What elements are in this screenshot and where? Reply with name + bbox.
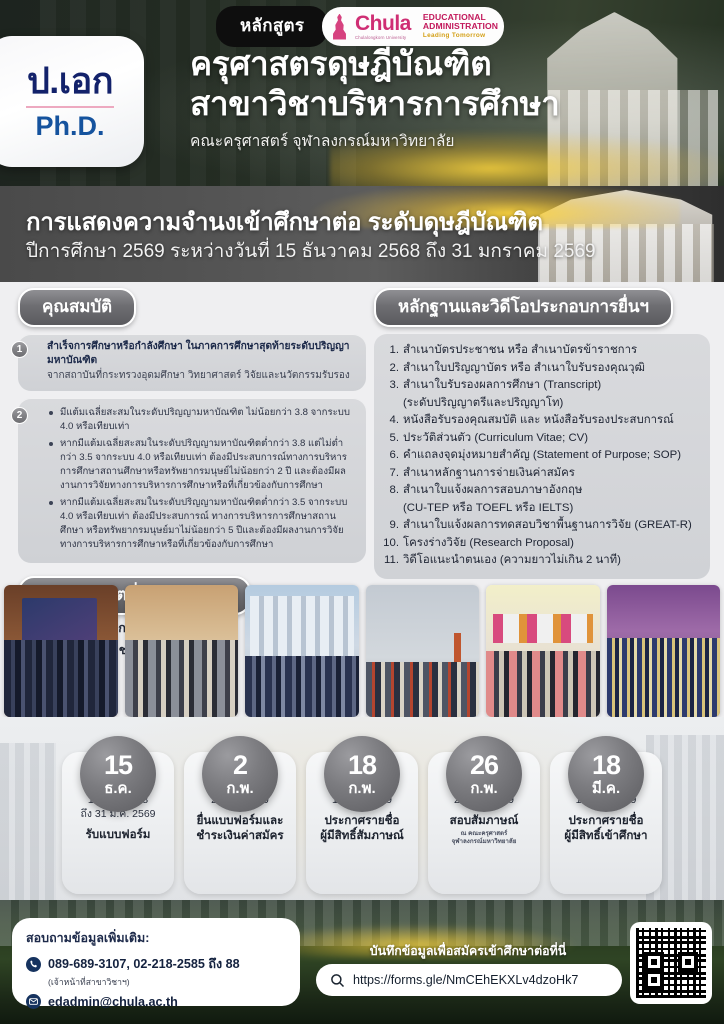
photo-group-photo-event-backdrop <box>486 585 600 717</box>
course-pill: หลักสูตร <box>216 6 328 47</box>
announcement-banner: การแสดงความจำนงเข้าศึกษาต่อ ระดับดุษฎีบั… <box>0 186 724 282</box>
list-item: 9.สำเนาใบแจ้งผลการทดสอบวิชาพื้นฐานการวิจ… <box>382 517 700 534</box>
document-continuation: (ระดับปริญญาตรีและปริญญาโท) <box>403 395 700 412</box>
list-item: 5.ประวัติส่วนตัว (Curriculum Vitae; CV) <box>382 430 700 447</box>
document-number: 9. <box>382 517 399 534</box>
qualification-1-number: 1 <box>11 341 28 358</box>
qualification-2-bullet-list: มีแต้มเฉลี่ยสะสมในระดับปริญญามหาบัณฑิต ไ… <box>47 406 357 552</box>
timeline-label: ประกาศรายชื่อผู้มีสิทธิ์เข้าศึกษา <box>555 813 657 843</box>
phone-icon <box>26 957 41 972</box>
list-item: หากมีแต้มเฉลี่ยสะสมในระดับปริญญามหาบัณฑิ… <box>47 437 357 493</box>
qr-eye-top-right <box>678 952 698 972</box>
document-text: หนังสือรับรองคุณสมบัติ และ หนังสือรับรอง… <box>403 412 700 429</box>
photo-group-photo-golden-gate <box>366 585 480 717</box>
document-number: 4. <box>382 412 399 429</box>
timeline-card: 18มี.ค.18 มี.ค. 2569ประกาศรายชื่อผู้มีสิ… <box>550 752 662 894</box>
timeline-day: 15 <box>104 752 132 779</box>
document-number: 6. <box>382 447 399 464</box>
document-number: 11. <box>382 552 399 569</box>
educational-administration-mark: EDUCATIONAL ADMINISTRATION Leading Tomor… <box>423 13 498 40</box>
list-item: 10.โครงร่างวิจัย (Research Proposal) <box>382 535 700 552</box>
qr-code[interactable] <box>630 922 712 1004</box>
qr-eye-top-left <box>644 952 664 972</box>
contact-email: edadmin@chula.ac.th <box>48 995 178 1009</box>
document-text: สำเนาใบปริญญาบัตร หรือ สำเนาใบรับรองคุณว… <box>403 360 700 377</box>
chula-logo: Chula Chulalongkorn University EDUCATION… <box>322 7 504 46</box>
contact-phone: 089-689-3107, 02-218-2585 ถึง 88 <box>48 954 240 974</box>
degree-badge-rule <box>26 106 114 109</box>
announcement-period: ปีการศึกษา 2569 ระหว่างวันที่ 15 ธันวาคม… <box>26 236 596 266</box>
faculty-name: คณะครุศาสตร์ จุฬาลงกรณ์มหาวิทยาลัย <box>190 128 716 153</box>
list-item: 3.สำเนาใบรับรองผลการศึกษา (Transcript) <box>382 377 700 394</box>
timeline-card: 26ก.พ.26 ก.พ. 2569สอบสัมภาษณ์ณ คณะครุศาส… <box>428 752 540 894</box>
list-item: 4.หนังสือรับรองคุณสมบัติ และ หนังสือรับร… <box>382 412 700 429</box>
contact-email-row[interactable]: edadmin@chula.ac.th <box>26 994 286 1009</box>
list-item: 1.สำเนาบัตรประชาชน หรือ สำเนาบัตรข้าราชก… <box>382 342 700 359</box>
header-banner: หลักสูตร Chula Chulalongkorn University … <box>0 0 724 186</box>
documents-heading: หลักฐานและวิดีโอประกอบการยื่นฯ <box>374 288 673 327</box>
timeline-note: ณ คณะครุศาสตร์จุฬาลงกรณ์มหาวิทยาลัย <box>433 830 535 847</box>
timeline-date-circle: 18มี.ค. <box>568 736 644 812</box>
timeline-month: ก.พ. <box>226 781 253 796</box>
apply-label: บันทึกข้อมูลเพื่อสมัครเข้าศึกษาต่อที่นี่ <box>318 942 618 961</box>
documents-column: หลักฐานและวิดีโอประกอบการยื่นฯ 1.สำเนาบั… <box>374 288 710 579</box>
poster-root: หลักสูตร Chula Chulalongkorn University … <box>0 0 724 1024</box>
contact-title: สอบถามข้อมูลเพิ่มเติม: <box>26 928 286 948</box>
document-number: 5. <box>382 430 399 447</box>
document-number: 2. <box>382 360 399 377</box>
document-number: 1. <box>382 342 399 359</box>
photo-group-photo-ceremony <box>4 585 118 717</box>
photo-group-photo-auditorium <box>607 585 721 717</box>
timeline-card: 2ก.พ.2 - 4 ก.พ. 69ยื่นแบบฟอร์มและชำระเงิ… <box>184 752 296 894</box>
timeline-card: 18ก.พ.18 ก.พ. 2569ประกาศรายชื่อผู้มีสิทธ… <box>306 752 418 894</box>
qualification-2-number: 2 <box>11 407 28 424</box>
timeline-month: ก.พ. <box>470 781 497 796</box>
search-icon <box>330 973 345 988</box>
list-item: 11.วิดีโอแนะนำตนเอง (ความยาวไม่เกิน 2 นา… <box>382 552 700 569</box>
document-number: 10. <box>382 535 399 552</box>
ea-line-2: ADMINISTRATION <box>423 22 498 31</box>
qualification-item-1: 1 สำเร็จการศึกษาหรือกำลังศึกษา ในภาคการศ… <box>27 340 357 383</box>
photo-group-photo-conference-room <box>125 585 239 717</box>
document-text: สำเนาใบแจ้งผลการทดสอบวิชาพื้นฐานการวิจัย… <box>403 517 700 534</box>
document-number: 8. <box>382 482 399 499</box>
timeline-label: ประกาศรายชื่อผู้มีสิทธิ์สัมภาษณ์ <box>311 813 413 843</box>
contact-card: สอบถามข้อมูลเพิ่มเติม: 089-689-3107, 02-… <box>12 918 300 1006</box>
document-text: สำเนาบัตรประชาชน หรือ สำเนาบัตรข้าราชการ <box>403 342 700 359</box>
qualification-item-2: 2 มีแต้มเฉลี่ยสะสมในระดับปริญญามหาบัณฑิต… <box>27 406 357 552</box>
timeline-month: มี.ค. <box>592 781 620 796</box>
timeline-month: ก.พ. <box>348 781 375 796</box>
timeline-day: 18 <box>592 752 620 779</box>
timeline: 15ธ.ค.15 ธ.ค. 2568ถึง 31 ม.ค. 2569รับแบบ… <box>0 752 724 894</box>
timeline-date-circle: 2ก.พ. <box>202 736 278 812</box>
documents-list: 1.สำเนาบัตรประชาชน หรือ สำเนาบัตรข้าราชก… <box>382 342 700 569</box>
document-number: 3. <box>382 377 399 394</box>
document-text: โครงร่างวิจัย (Research Proposal) <box>403 535 700 552</box>
program-title-line-2: สาขาวิชาบริหารการศึกษา <box>190 84 716 124</box>
program-title-line-1: ครุศาสตรดุษฎีบัณฑิต <box>190 44 716 84</box>
timeline-card: 15ธ.ค.15 ธ.ค. 2568ถึง 31 ม.ค. 2569รับแบบ… <box>62 752 174 894</box>
timeline-month: ธ.ค. <box>104 781 132 796</box>
list-item: 8.สำเนาใบแจ้งผลการสอบภาษาอังกฤษ <box>382 482 700 499</box>
list-item: มีแต้มเฉลี่ยสะสมในระดับปริญญามหาบัณฑิต ไ… <box>47 406 357 434</box>
document-text: สำเนาใบรับรองผลการศึกษา (Transcript) <box>403 377 700 394</box>
qualifications-item-2-panel: 2 มีแต้มเฉลี่ยสะสมในระดับปริญญามหาบัณฑิต… <box>18 398 366 563</box>
contact-phone-row[interactable]: 089-689-3107, 02-218-2585 ถึง 88 <box>26 954 286 974</box>
document-text: วิดีโอแนะนำตนเอง (ความยาวไม่เกิน 2 นาที) <box>403 552 700 569</box>
timeline-day: 26 <box>470 752 498 779</box>
photo-strip <box>0 585 724 717</box>
program-title-block: ครุศาสตรดุษฎีบัณฑิต สาขาวิชาบริหารการศึก… <box>190 44 716 153</box>
qualification-1-text: สำเร็จการศึกษาหรือกำลังศึกษา ในภาคการศึก… <box>47 340 357 369</box>
qualifications-item-1-panel: 1 สำเร็จการศึกษาหรือกำลังศึกษา ในภาคการศ… <box>18 334 366 391</box>
timeline-label: สอบสัมภาษณ์ <box>433 813 535 828</box>
document-number: 7. <box>382 465 399 482</box>
footer: สอบถามข้อมูลเพิ่มเติม: 089-689-3107, 02-… <box>0 900 724 1024</box>
document-text: สำเนาใบแจ้งผลการสอบภาษาอังกฤษ <box>403 482 700 499</box>
timeline-date-circle: 18ก.พ. <box>324 736 400 812</box>
photo-group-photo-museum-steps <box>245 585 359 717</box>
qualifications-heading: คุณสมบัติ <box>18 288 136 327</box>
application-url: https://forms.gle/NmCEhEKXLv4dzoHk7 <box>353 973 578 987</box>
list-item: 7.สำเนาหลักฐานการจ่ายเงินค่าสมัคร <box>382 465 700 482</box>
chula-crest-icon <box>330 14 349 40</box>
document-text: สำเนาหลักฐานการจ่ายเงินค่าสมัคร <box>403 465 700 482</box>
list-item: 2.สำเนาใบปริญญาบัตร หรือ สำเนาใบรับรองคุ… <box>382 360 700 377</box>
chula-brand-subtext: Chulalongkorn University <box>355 36 411 40</box>
chula-wordmark: Chula Chulalongkorn University <box>355 13 411 40</box>
timeline-label: รับแบบฟอร์ม <box>67 827 169 842</box>
degree-badge-thai: ป.เอก <box>27 63 113 99</box>
chula-brand-text: Chula <box>355 13 411 34</box>
document-text: คำแถลงจุดมุ่งหมายสำคัญ (Statement of Pur… <box>403 447 700 464</box>
list-item: หากมีแต้มเฉลี่ยสะสมในระดับปริญญามหาบัณฑิ… <box>47 496 357 552</box>
degree-badge: ป.เอก Ph.D. <box>0 36 144 167</box>
document-text: ประวัติส่วนตัว (Curriculum Vitae; CV) <box>403 430 700 447</box>
qualification-1-subtext: จากสถาบันที่กระทรวงอุดมศึกษา วิทยาศาสตร์… <box>47 369 357 383</box>
envelope-icon <box>26 994 41 1009</box>
list-item: 6.คำแถลงจุดมุ่งหมายสำคัญ (Statement of P… <box>382 447 700 464</box>
ea-tagline: Leading Tomorrow <box>423 33 498 40</box>
timeline-day: 18 <box>348 752 376 779</box>
timeline-label: ยื่นแบบฟอร์มและชำระเงินค่าสมัคร <box>189 813 291 843</box>
degree-badge-english: Ph.D. <box>35 113 104 140</box>
documents-panel: 1.สำเนาบัตรประชาชน หรือ สำเนาบัตรข้าราชก… <box>374 334 710 579</box>
timeline-date-circle: 26ก.พ. <box>446 736 522 812</box>
application-url-pill[interactable]: https://forms.gle/NmCEhEKXLv4dzoHk7 <box>316 964 622 996</box>
timeline-day: 2 <box>233 752 247 779</box>
timeline-date-circle: 15ธ.ค. <box>80 736 156 812</box>
qr-eye-bottom-left <box>644 970 664 990</box>
contact-phone-note: (เจ้าหน้าที่สาขาวิชาฯ) <box>48 975 286 989</box>
document-continuation: (CU-TEP หรือ TOEFL หรือ IELTS) <box>403 500 700 517</box>
